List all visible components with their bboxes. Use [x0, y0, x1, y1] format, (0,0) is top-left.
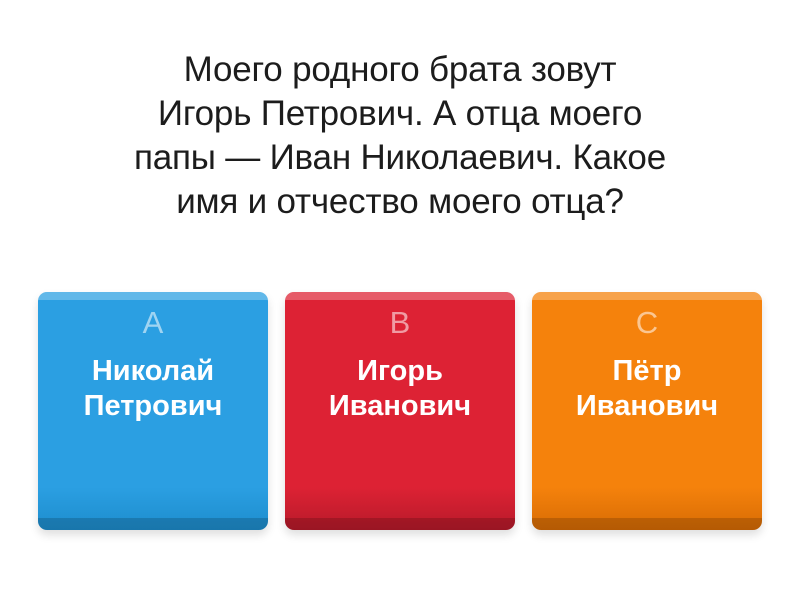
answer-option-c[interactable]: C Пётр Иванович [532, 292, 762, 530]
answer-letter-a: A [143, 306, 164, 340]
answer-option-b[interactable]: B Игорь Иванович [285, 292, 515, 530]
quiz-screen: Моего родного брата зовут Игорь Петрович… [0, 0, 800, 600]
answer-option-a[interactable]: A Николай Петрович [38, 292, 268, 530]
question-text: Моего родного брата зовут Игорь Петрович… [30, 48, 770, 224]
answer-letter-b: B [390, 306, 411, 340]
answer-label-a: Николай Петрович [74, 354, 233, 424]
answer-letter-c: C [636, 306, 658, 340]
answer-label-b: Игорь Иванович [319, 354, 481, 424]
question-area: Моего родного брата зовут Игорь Петрович… [30, 48, 770, 224]
answer-label-c: Пётр Иванович [566, 354, 728, 424]
answer-options-list: A Николай Петрович B Игорь Иванович C Пё… [38, 292, 762, 532]
